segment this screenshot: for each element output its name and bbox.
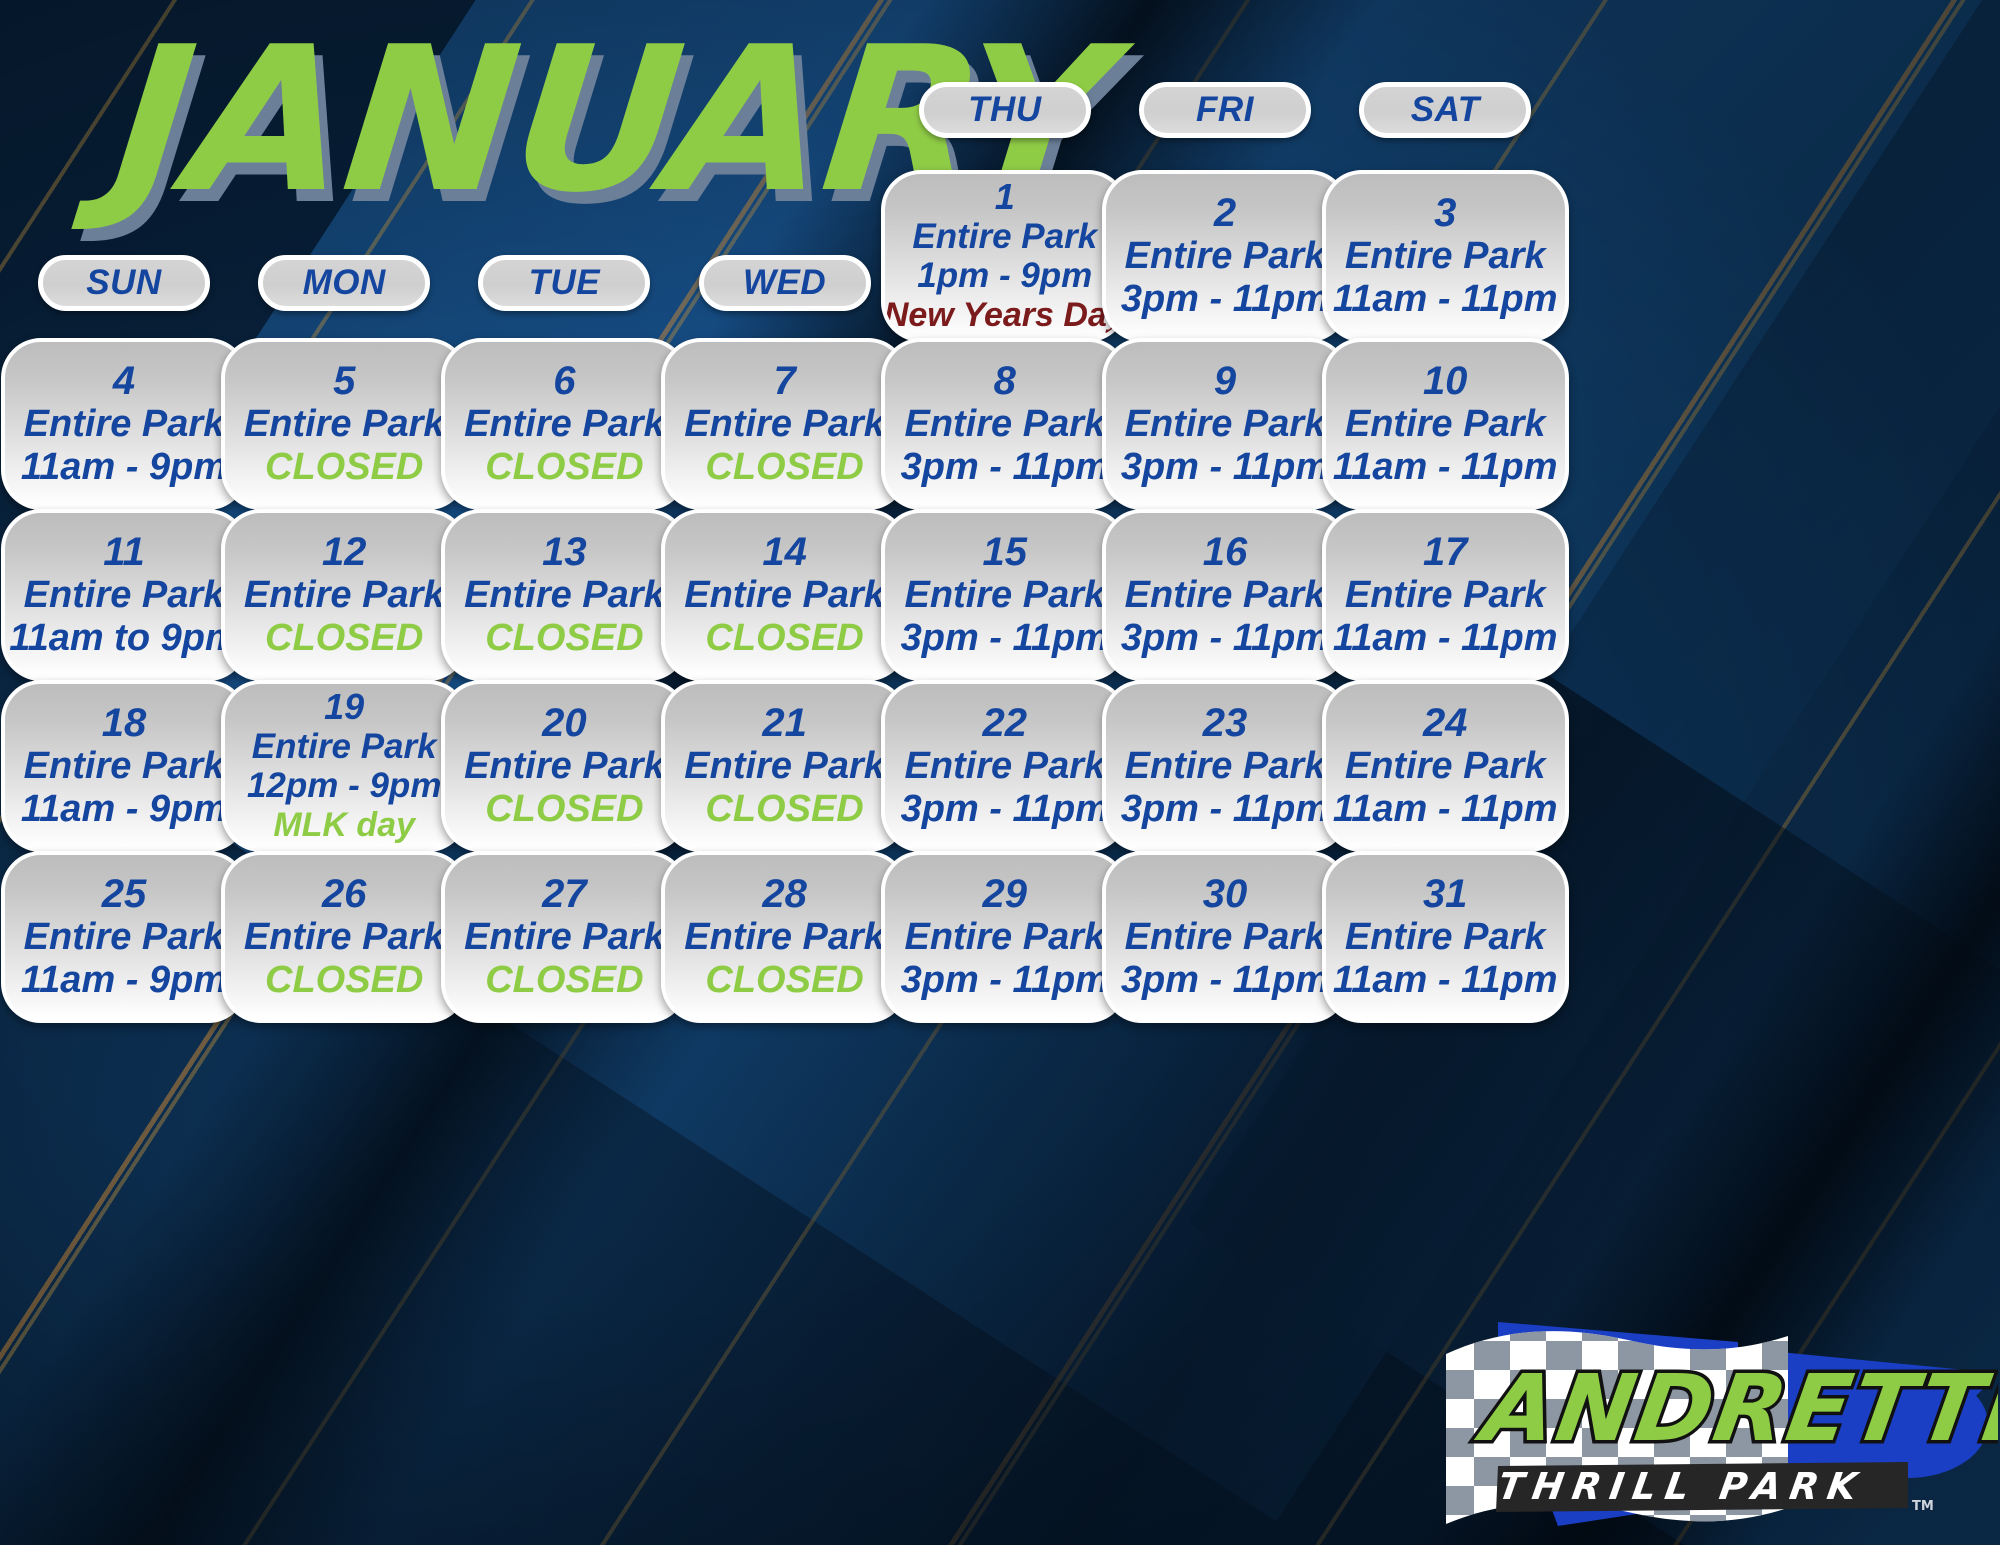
day-header-label: SUN <box>86 263 161 303</box>
day-area-label: Entire Park <box>1345 916 1546 959</box>
calendar-day-cell[interactable]: 11Entire Park11am to 9pm <box>1 509 248 681</box>
calendar-day-cell[interactable]: 5Entire ParkCLOSED <box>221 338 468 510</box>
calendar-day-cell[interactable]: 28Entire ParkCLOSED <box>661 851 908 1023</box>
calendar-day-cell[interactable]: 14Entire ParkCLOSED <box>661 509 908 681</box>
day-hours: 1pm - 9pm <box>917 256 1092 295</box>
day-area-label: Entire Park <box>464 574 665 617</box>
day-header-wed: WED <box>699 255 871 311</box>
calendar-day-cell[interactable]: 6Entire ParkCLOSED <box>441 338 688 510</box>
day-number: 26 <box>322 873 367 915</box>
day-area-label: Entire Park <box>1125 574 1326 617</box>
day-number: 27 <box>542 873 587 915</box>
day-header-label: THU <box>968 90 1041 130</box>
day-closed-label: CLOSED <box>485 617 643 660</box>
day-area-label: Entire Park <box>24 574 225 617</box>
day-area-label: Entire Park <box>1345 745 1546 788</box>
day-hours: 11am - 11pm <box>1333 278 1558 321</box>
day-hours: 11am - 11pm <box>1333 446 1558 489</box>
day-header-label: WED <box>743 263 826 303</box>
day-area-label: Entire Park <box>252 727 437 766</box>
calendar-day-cell[interactable]: 20Entire ParkCLOSED <box>441 680 688 852</box>
day-area-label: Entire Park <box>684 745 885 788</box>
calendar-day-cell[interactable]: 3Entire Park11am - 11pm <box>1322 170 1569 342</box>
logo-wordmark: ANDRETTI <box>1469 1355 1998 1462</box>
day-closed-label: CLOSED <box>485 788 643 831</box>
day-area-label: Entire Park <box>684 403 885 446</box>
day-area-label: Entire Park <box>1125 403 1326 446</box>
day-header-label: FRI <box>1196 90 1254 130</box>
calendar-day-cell[interactable]: 17Entire Park11am - 11pm <box>1322 509 1569 681</box>
day-hours: 11am - 9pm <box>21 959 227 1002</box>
day-number: 13 <box>542 531 587 573</box>
day-area-label: Entire Park <box>24 745 225 788</box>
day-number: 4 <box>113 360 135 402</box>
day-closed-label: CLOSED <box>485 959 643 1002</box>
day-hours: 3pm - 11pm <box>1121 959 1329 1002</box>
calendar-day-cell[interactable]: 25Entire Park11am - 9pm <box>1 851 248 1023</box>
calendar-day-cell[interactable]: 8Entire Park3pm - 11pm <box>881 338 1128 510</box>
calendar-day-cell[interactable]: 15Entire Park3pm - 11pm <box>881 509 1128 681</box>
calendar-day-cell[interactable]: 22Entire Park3pm - 11pm <box>881 680 1128 852</box>
calendar-day-cell[interactable]: 21Entire ParkCLOSED <box>661 680 908 852</box>
calendar-day-cell[interactable]: 31Entire Park11am - 11pm <box>1322 851 1569 1023</box>
day-number: 29 <box>983 873 1028 915</box>
day-area-label: Entire Park <box>1125 916 1326 959</box>
day-number: 7 <box>773 360 795 402</box>
day-area-label: Entire Park <box>904 574 1105 617</box>
logo-tagline: THRILL PARK <box>1495 1464 1869 1508</box>
day-header-sat: SAT <box>1359 82 1531 138</box>
day-area-label: Entire Park <box>904 916 1105 959</box>
calendar-page: JANUARY SUNMONTUEWEDTHUFRISAT 1Entire Pa… <box>0 0 2000 1545</box>
day-area-label: Entire Park <box>1345 574 1546 617</box>
calendar-day-cell[interactable]: 29Entire Park3pm - 11pm <box>881 851 1128 1023</box>
day-area-label: Entire Park <box>464 403 665 446</box>
day-area-label: Entire Park <box>1125 235 1326 278</box>
logo-trademark: TM <box>1912 1499 1934 1514</box>
day-closed-label: CLOSED <box>485 446 643 489</box>
day-header-label: MON <box>303 263 386 303</box>
calendar-day-cell[interactable]: 12Entire ParkCLOSED <box>221 509 468 681</box>
day-number: 30 <box>1203 873 1248 915</box>
day-header-tue: TUE <box>478 255 650 311</box>
day-header-label: TUE <box>529 263 601 303</box>
day-area-label: Entire Park <box>464 745 665 788</box>
day-holiday-note: New Years Day <box>884 296 1126 334</box>
day-closed-label: CLOSED <box>705 446 863 489</box>
day-number: 28 <box>762 873 807 915</box>
day-number: 10 <box>1423 360 1468 402</box>
day-area-label: Entire Park <box>904 403 1105 446</box>
day-number: 25 <box>102 873 147 915</box>
andretti-thrill-park-logo: ANDRETTI THRILL PARK TM <box>1438 1312 1998 1544</box>
day-closed-label: CLOSED <box>705 617 863 660</box>
day-closed-label: CLOSED <box>265 446 423 489</box>
calendar-day-cell[interactable]: 4Entire Park11am - 9pm <box>1 338 248 510</box>
day-area-label: Entire Park <box>684 916 885 959</box>
day-hours: 3pm - 11pm <box>901 617 1109 660</box>
day-area-label: Entire Park <box>24 916 225 959</box>
day-number: 8 <box>994 360 1016 402</box>
day-number: 19 <box>324 688 364 726</box>
day-area-label: Entire Park <box>1345 235 1546 278</box>
day-area-label: Entire Park <box>244 916 445 959</box>
day-number: 14 <box>762 531 807 573</box>
day-header-sun: SUN <box>38 255 210 311</box>
calendar-day-cell[interactable]: 23Entire Park3pm - 11pm <box>1102 680 1349 852</box>
day-hours: 3pm - 11pm <box>1121 446 1329 489</box>
day-number: 6 <box>553 360 575 402</box>
day-number: 12 <box>322 531 367 573</box>
day-area-label: Entire Park <box>904 745 1105 788</box>
day-hours: 11am - 11pm <box>1333 959 1558 1002</box>
day-area-label: Entire Park <box>244 403 445 446</box>
day-area-label: Entire Park <box>1125 745 1326 788</box>
day-number: 11 <box>103 531 145 573</box>
day-holiday-note: MLK day <box>273 806 415 844</box>
day-area-label: Entire Park <box>464 916 665 959</box>
day-hours: 11am - 11pm <box>1333 788 1558 831</box>
day-number: 2 <box>1214 192 1236 234</box>
day-header-thu: THU <box>919 82 1091 138</box>
day-hours: 11am - 11pm <box>1333 617 1558 660</box>
day-header-label: SAT <box>1411 90 1480 130</box>
day-hours: 11am to 9pm <box>9 617 238 660</box>
day-number: 1 <box>995 178 1015 216</box>
day-hours: 3pm - 11pm <box>901 446 1109 489</box>
day-hours: 3pm - 11pm <box>901 959 1109 1002</box>
calendar-day-cell[interactable]: 18Entire Park11am - 9pm <box>1 680 248 852</box>
day-number: 16 <box>1203 531 1248 573</box>
day-number: 31 <box>1423 873 1468 915</box>
day-number: 23 <box>1203 702 1248 744</box>
day-number: 17 <box>1423 531 1468 573</box>
calendar-day-cell[interactable]: 26Entire ParkCLOSED <box>221 851 468 1023</box>
day-number: 21 <box>762 702 807 744</box>
day-number: 3 <box>1434 192 1456 234</box>
calendar-day-cell[interactable]: 9Entire Park3pm - 11pm <box>1102 338 1349 510</box>
day-header-fri: FRI <box>1139 82 1311 138</box>
day-hours: 11am - 9pm <box>21 788 227 831</box>
day-hours: 11am - 9pm <box>21 446 227 489</box>
day-number: 18 <box>102 702 147 744</box>
day-area-label: Entire Park <box>912 217 1097 256</box>
calendar-day-cell[interactable]: 16Entire Park3pm - 11pm <box>1102 509 1349 681</box>
calendar-day-cell[interactable]: 19Entire Park12pm - 9pmMLK day <box>221 680 468 852</box>
day-hours: 3pm - 11pm <box>1121 278 1329 321</box>
day-hours: 3pm - 11pm <box>1121 788 1329 831</box>
day-number: 15 <box>983 531 1028 573</box>
calendar-day-cell[interactable]: 27Entire ParkCLOSED <box>441 851 688 1023</box>
calendar-day-cell[interactable]: 2Entire Park3pm - 11pm <box>1102 170 1349 342</box>
day-area-label: Entire Park <box>244 574 445 617</box>
day-number: 20 <box>542 702 587 744</box>
day-hours: 12pm - 9pm <box>247 766 442 805</box>
calendar-day-cell[interactable]: 30Entire Park3pm - 11pm <box>1102 851 1349 1023</box>
calendar-day-cell[interactable]: 24Entire Park11am - 11pm <box>1322 680 1569 852</box>
calendar-day-cell[interactable]: 10Entire Park11am - 11pm <box>1322 338 1569 510</box>
day-closed-label: CLOSED <box>265 959 423 1002</box>
day-closed-label: CLOSED <box>705 788 863 831</box>
day-closed-label: CLOSED <box>265 617 423 660</box>
day-area-label: Entire Park <box>24 403 225 446</box>
day-number: 9 <box>1214 360 1236 402</box>
calendar-day-cell[interactable]: 13Entire ParkCLOSED <box>441 509 688 681</box>
day-closed-label: CLOSED <box>705 959 863 1002</box>
day-number: 5 <box>333 360 355 402</box>
day-number: 24 <box>1423 702 1468 744</box>
day-header-mon: MON <box>258 255 430 311</box>
day-hours: 3pm - 11pm <box>1121 617 1329 660</box>
calendar-day-cell[interactable]: 1Entire Park1pm - 9pmNew Years Day <box>881 170 1128 342</box>
calendar-day-cell[interactable]: 7Entire ParkCLOSED <box>661 338 908 510</box>
day-number: 22 <box>983 702 1028 744</box>
day-area-label: Entire Park <box>684 574 885 617</box>
day-area-label: Entire Park <box>1345 403 1546 446</box>
day-hours: 3pm - 11pm <box>901 788 1109 831</box>
